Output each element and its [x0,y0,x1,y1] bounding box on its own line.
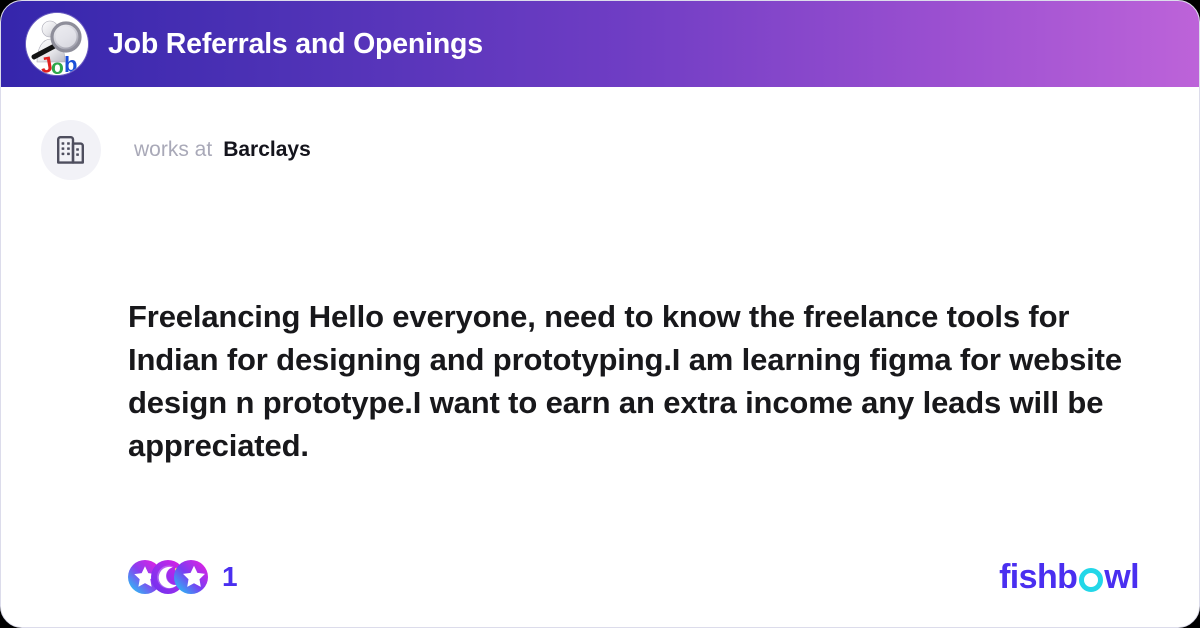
reaction-icon-stack[interactable] [128,560,208,594]
building-icon [41,120,101,180]
reactions-group[interactable]: 1 [128,560,238,594]
svg-text:b: b [64,52,77,75]
shooting-star-reaction-icon[interactable] [174,560,208,594]
fishbowl-logo-text-start: fishb [999,560,1077,594]
svg-text:o: o [51,56,64,75]
fishbowl-logo-text-end: wl [1104,560,1139,594]
fishbowl-logo[interactable]: fishb wl [999,560,1139,594]
fishbowl-logo-o-icon [1079,568,1103,592]
post-card: J o b Job Referrals and Openings [0,0,1200,628]
company-name: Barclays [223,138,311,162]
works-at-label: works at [134,138,212,162]
post-body-text: Freelancing Hello everyone, need to know… [128,295,1158,467]
author-affiliation: works at Barclays [134,138,311,162]
card-footer: 1 fishb wl [1,527,1199,627]
group-title: Job Referrals and Openings [108,28,483,61]
reaction-count: 1 [222,563,238,591]
card-body: works at Barclays Freelancing Hello ever… [1,87,1199,627]
group-avatar[interactable]: J o b [26,13,88,75]
author-row: works at Barclays [41,120,311,180]
card-header: J o b Job Referrals and Openings [1,1,1199,87]
